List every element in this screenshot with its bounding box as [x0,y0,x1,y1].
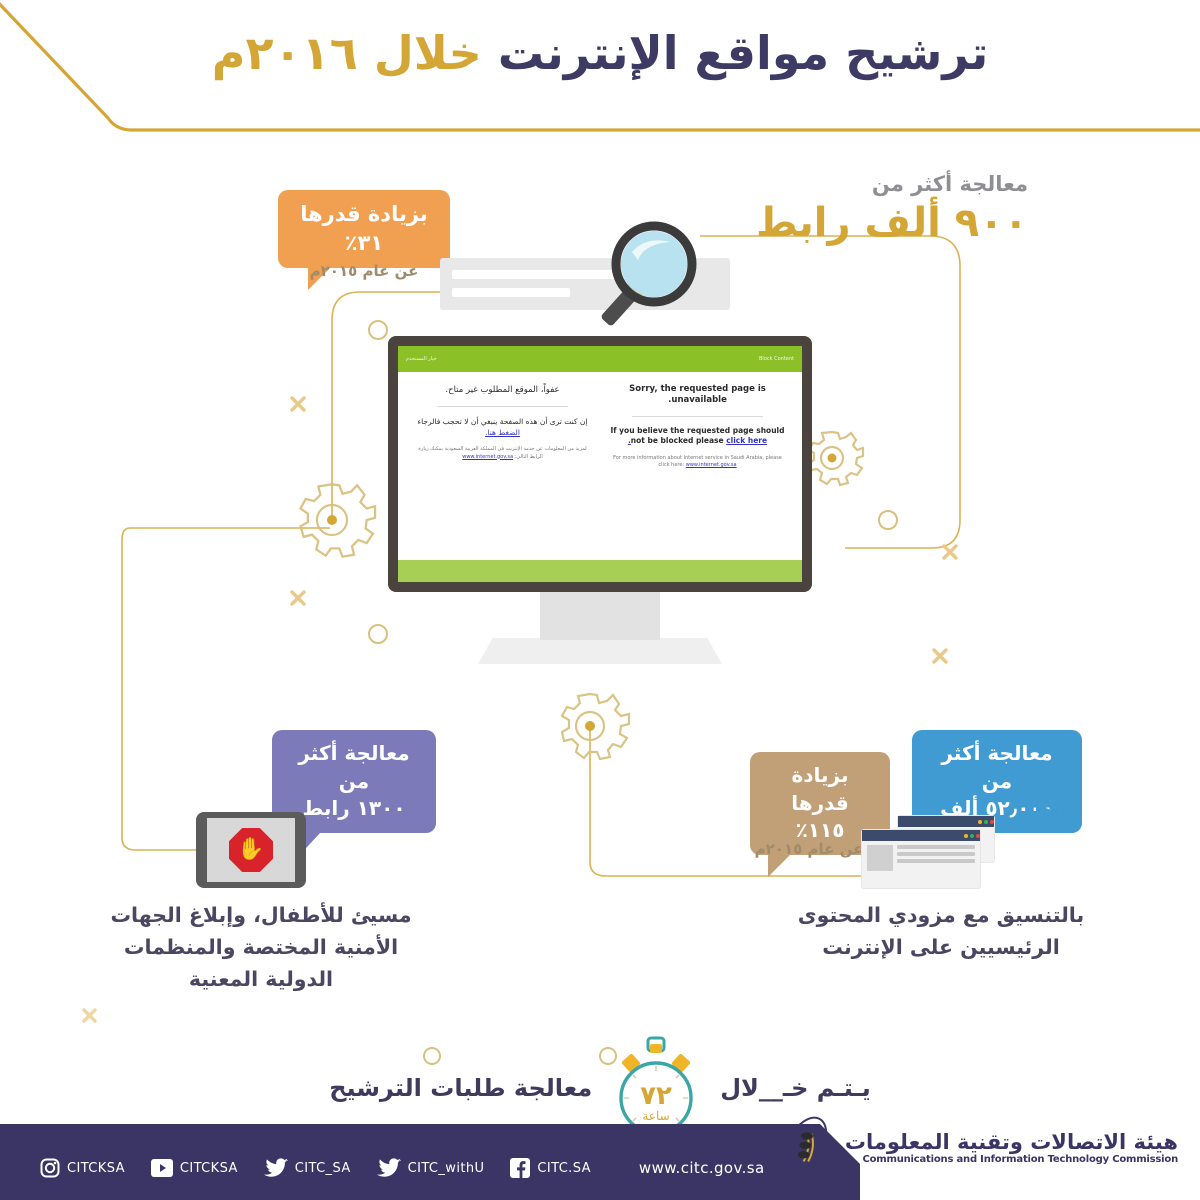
social-link-facebook[interactable]: CITC.SA [510,1158,591,1178]
blocked-page-header: Block Content خيار المستخدم [398,346,802,372]
callout-increase-top-line1: بزيادة قدرها [292,200,436,229]
monitor-neck [540,592,660,640]
blocked-page-ar-title: عفواً، الموقع المطلوب غير متاح. [412,384,593,397]
callout-child-abuse-line2: ١٣٠٠ رابط [286,795,422,823]
infographic-canvas: ترشيح مواقع الإنترنت خلال ٢٠١٦م [0,0,1200,1200]
citc-logo-english: Communications and Information Technolog… [845,1154,1178,1165]
callout-providers-line1: معالجة أكثر من [926,740,1068,795]
monitor-base [478,638,722,664]
stop-hand-icon: ✋ [229,828,273,872]
social-link-twitter-citc-withu[interactable]: CITC_withU [377,1158,485,1178]
caption-providers: بالتنسيق مع مزودي المحتوى الرئيسيين على … [776,900,1106,964]
twitter-icon [377,1158,401,1178]
facebook-icon [510,1158,530,1178]
content-providers-icon [862,812,1000,892]
blocked-page-en-title: Sorry, the requested page is unavailable… [607,384,788,407]
blocked-page-ar-note-link[interactable]: www.internet.gov.sa [462,454,513,460]
blocked-page-footer [398,560,802,582]
social-label-twitter-citc-withu: CITC_withU [408,1161,485,1176]
callout-increase-bottom-line1: بزيادة قدرها [764,762,876,817]
citc-logo-mark [773,1112,835,1184]
callout-providers-unit: رابط [1024,798,1084,820]
social-label-youtube: CITCKSA [180,1161,238,1176]
callout-child-abuse-line1: معالجة أكثر من [286,740,422,795]
social-links: CITCKSA CITCKSA CITC_SA CITC_with [40,1158,765,1178]
sla-suffix: معالجة طلبات الترشيح [329,1074,592,1102]
blocked-page-header-left: Block Content [759,356,794,362]
callout-increase-top-note: عن عام ٢٠١٥م [278,262,450,280]
footer: CITCKSA CITCKSA CITC_SA CITC_with [0,1116,1200,1200]
tablet-icon: ✋ [196,812,306,888]
blocked-page-ar-body: إن كنت ترى أن هذه الصفحة ينبغي أن لا تحج… [418,417,588,426]
youtube-icon [151,1159,173,1177]
social-label-twitter-citc-sa: CITC_SA [295,1161,351,1176]
divider-ar [437,406,567,407]
callout-increase-top: بزيادة قدرها ٣١٪ [278,190,450,268]
magnifier-icon [592,212,724,340]
window-titlebar [862,830,980,841]
citc-logo: هيئة الاتصالات وتقنية المعلومات Communic… [773,1112,1178,1184]
twitter-icon [264,1158,288,1178]
caption-child-abuse: مسيئ للأطفال، وإبلاغ الجهات الأمنية المخ… [96,900,426,995]
stat-links-total-value: ٩٠٠ ألف رابط [756,200,1028,246]
stat-links-total-label: معالجة أكثر من [872,172,1028,196]
callout-increase-top-line2: ٣١٪ [292,229,436,258]
social-label-facebook: CITC.SA [537,1161,591,1176]
blocked-page-body: Sorry, the requested page is unavailable… [398,372,802,469]
monitor-frame: Block Content خيار المستخدم Sorry, the r… [388,336,812,592]
blocked-page-ar-link[interactable]: الضغط هنا. [485,428,520,437]
blocked-page-header-right: خيار المستخدم [406,356,437,362]
citc-logo-arabic: هيئة الاتصالات وتقنية المعلومات [845,1131,1178,1154]
social-link-twitter-citc-sa[interactable]: CITC_SA [264,1158,351,1178]
social-link-instagram[interactable]: CITCKSA [40,1158,125,1178]
blocked-page-screen: Block Content خيار المستخدم Sorry, the r… [398,346,802,582]
website-url[interactable]: www.citc.gov.sa [639,1159,765,1177]
divider-en [632,416,762,417]
social-link-youtube[interactable]: CITCKSA [151,1159,238,1177]
window-titlebar [898,816,994,827]
stopwatch-number: ٧٢ [640,1081,672,1111]
instagram-icon [40,1158,60,1178]
sla-prefix: يـتـم خـ__لال [720,1074,871,1102]
social-label-instagram: CITCKSA [67,1161,125,1176]
tablet-screen: ✋ [207,818,295,882]
blocked-page-en-note-link[interactable]: www.internet.gov.sa [686,462,737,468]
